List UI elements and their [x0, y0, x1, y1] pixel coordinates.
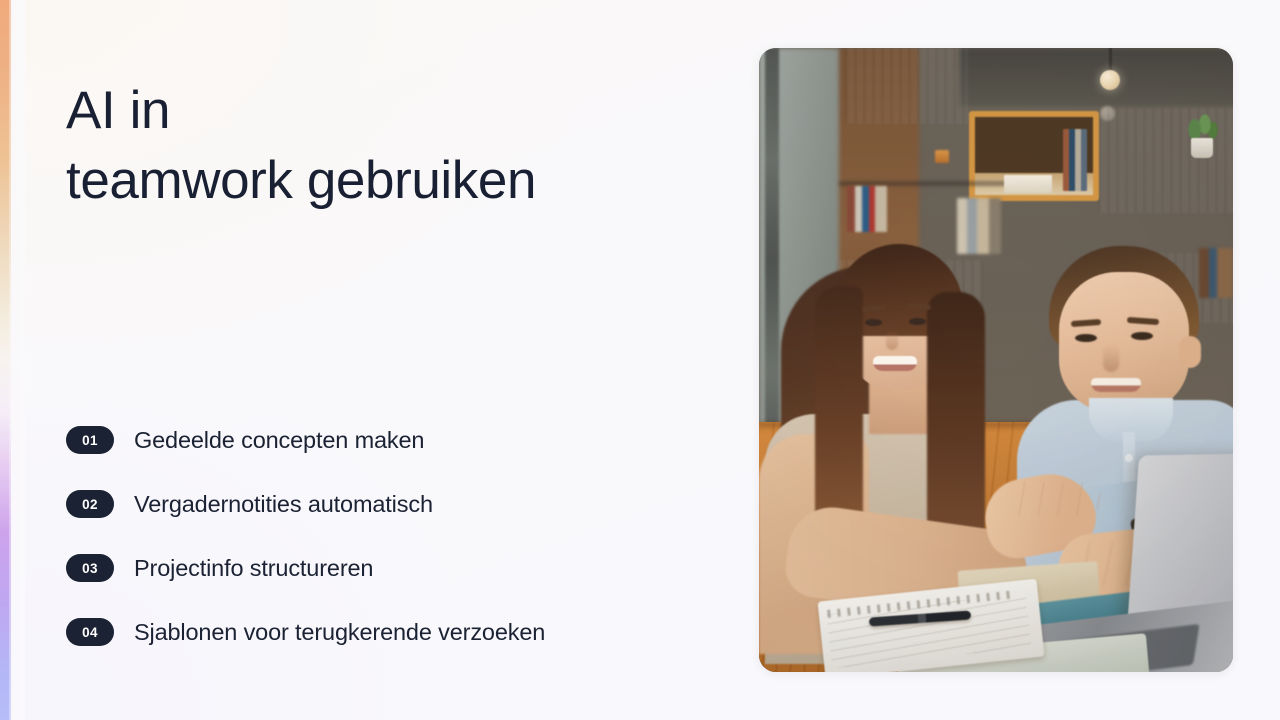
- list-item[interactable]: 04 Sjablonen voor terugkerende verzoeken: [66, 618, 686, 646]
- slide-title: AI in teamwork gebruiken: [66, 76, 686, 216]
- numbered-list: 01 Gedeelde concepten maken 02 Vergadern…: [66, 426, 686, 646]
- slide: AI in teamwork gebruiken 01 Gedeelde con…: [0, 0, 1280, 720]
- left-content-column: AI in teamwork gebruiken 01 Gedeelde con…: [66, 0, 686, 720]
- list-item-number-badge: 01: [66, 426, 114, 454]
- photo-color-grade: [759, 48, 1233, 672]
- list-item-number-badge: 02: [66, 490, 114, 518]
- list-item-number-badge: 03: [66, 554, 114, 582]
- teamwork-photo: [759, 48, 1233, 672]
- teamwork-photo-card: [759, 48, 1233, 672]
- list-item-label: Projectinfo structureren: [134, 555, 373, 582]
- accent-strip-fade: [9, 0, 25, 720]
- list-item[interactable]: 03 Projectinfo structureren: [66, 554, 686, 582]
- list-item-label: Vergadernotities automatisch: [134, 491, 433, 518]
- list-item[interactable]: 01 Gedeelde concepten maken: [66, 426, 686, 454]
- list-item-label: Gedeelde concepten maken: [134, 427, 424, 454]
- list-item-label: Sjablonen voor terugkerende verzoeken: [134, 619, 545, 646]
- list-item[interactable]: 02 Vergadernotities automatisch: [66, 490, 686, 518]
- list-item-number-badge: 04: [66, 618, 114, 646]
